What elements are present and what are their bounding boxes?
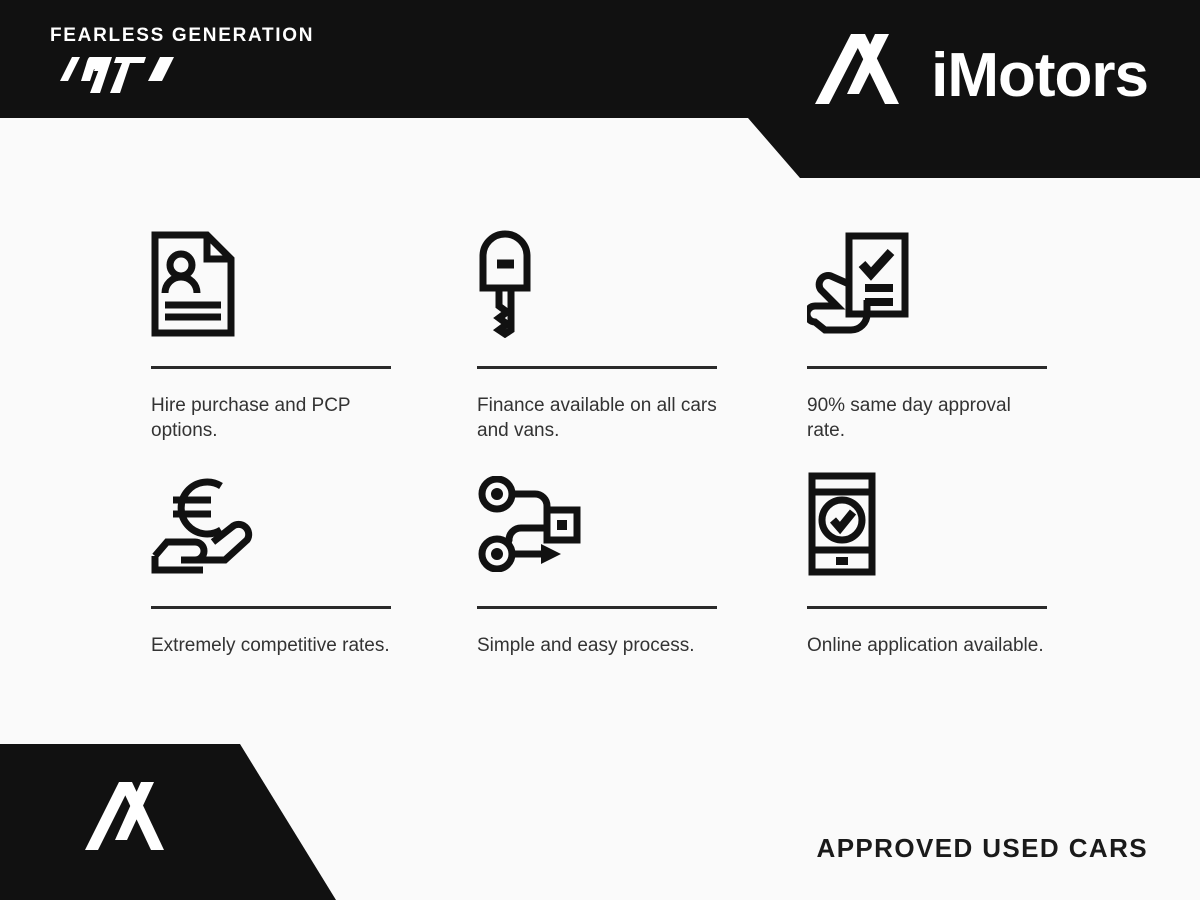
feature-label: Hire purchase and PCP options.	[151, 393, 391, 443]
feature-divider	[477, 366, 717, 369]
feature-item: 90% same day approval rate.	[807, 222, 1051, 462]
feature-divider	[151, 366, 391, 369]
feature-item: Extremely competitive rates.	[151, 462, 477, 702]
feature-divider	[477, 606, 717, 609]
brand-wordmark: iMotors	[931, 45, 1148, 107]
campaign-title: FEARLESS GENERATION	[50, 26, 314, 45]
process-flowchart-icon	[477, 462, 807, 582]
hand-euro-icon	[151, 462, 477, 582]
feature-divider	[807, 606, 1047, 609]
feature-label: Extremely competitive rates.	[151, 633, 391, 658]
car-key-icon	[477, 222, 807, 342]
feature-label: 90% same day approval rate.	[807, 393, 1047, 443]
smartphone-check-icon	[807, 462, 1051, 582]
imotors-chevron-icon	[813, 34, 905, 118]
feature-divider	[807, 366, 1047, 369]
feature-item: Hire purchase and PCP options.	[151, 222, 477, 462]
footer-tagline: APPROVED USED CARS	[817, 833, 1148, 864]
hand-holding-checklist-icon	[807, 222, 1051, 342]
feature-label: Online application available.	[807, 633, 1047, 658]
year-1971-logo	[50, 51, 180, 95]
footer-banner	[0, 744, 340, 900]
feature-item: Simple and easy process.	[477, 462, 807, 702]
imotors-chevron-icon	[84, 782, 170, 864]
feature-label: Finance available on all cars and vans.	[477, 393, 717, 443]
feature-item: Finance available on all cars and vans.	[477, 222, 807, 462]
feature-grid: Hire purchase and PCP options. Finance a…	[151, 222, 1051, 702]
feature-divider	[151, 606, 391, 609]
campaign-lockup: FEARLESS GENERATION	[50, 26, 314, 100]
feature-item: Online application available.	[807, 462, 1051, 702]
brand-lockup: iMotors	[813, 34, 1148, 118]
document-person-icon	[151, 222, 477, 342]
feature-label: Simple and easy process.	[477, 633, 717, 658]
